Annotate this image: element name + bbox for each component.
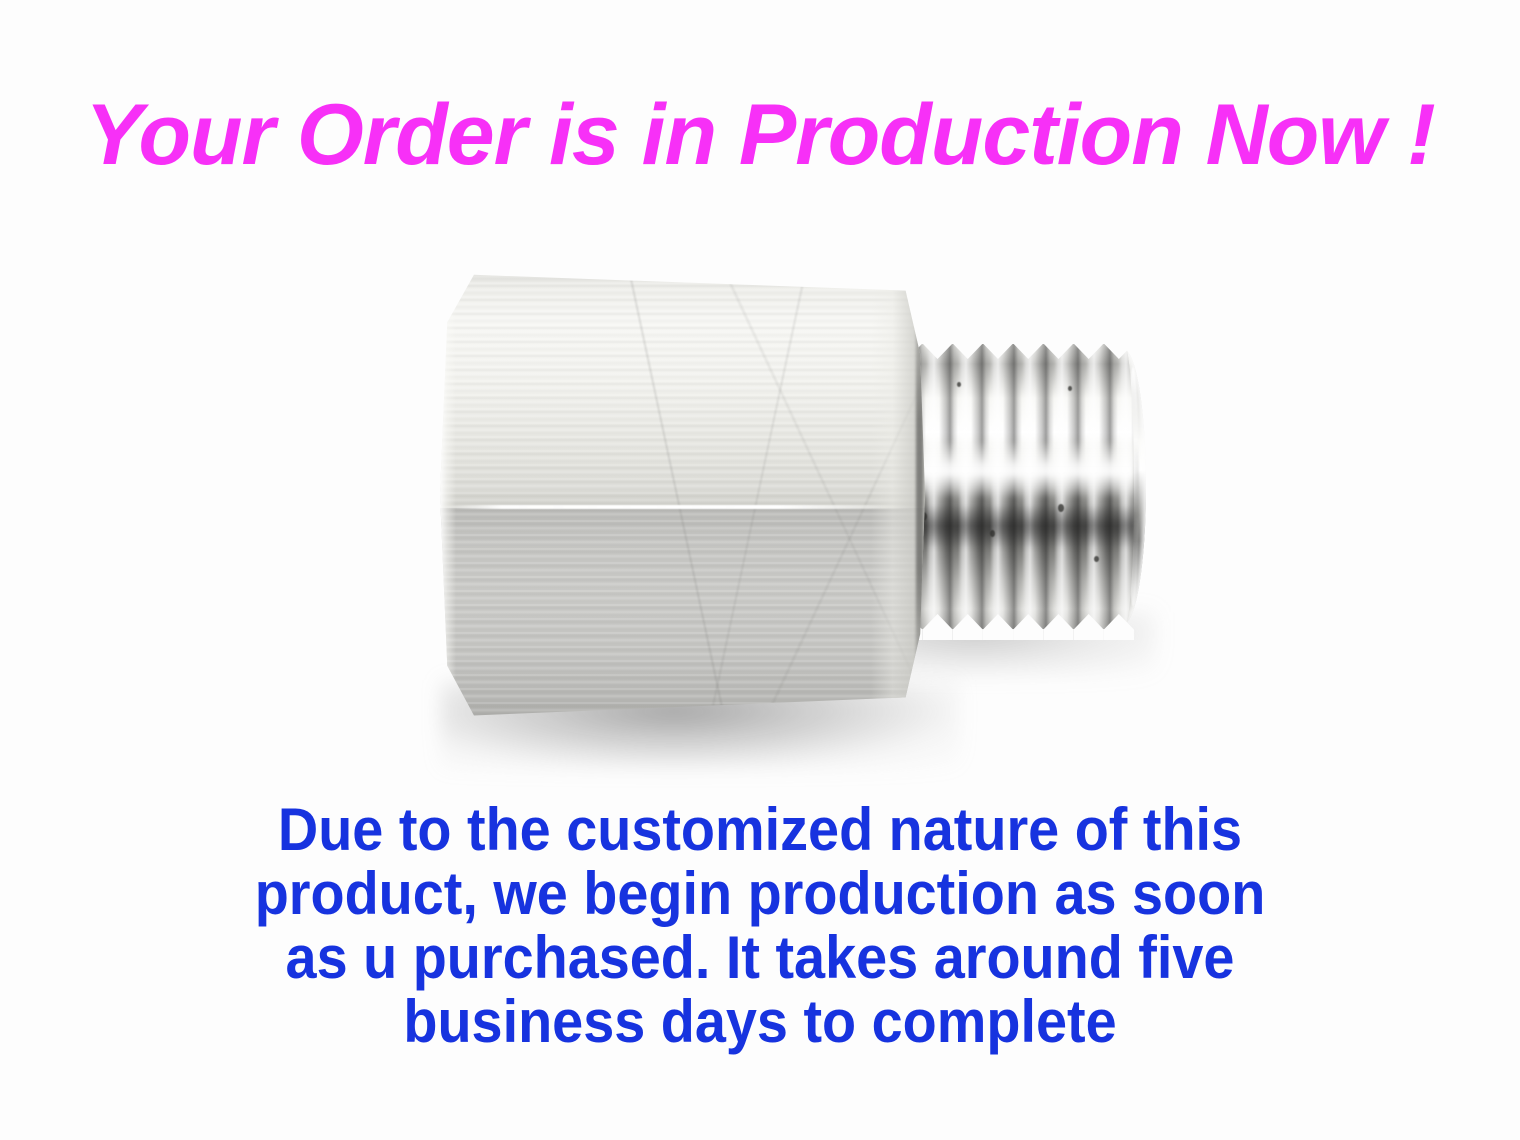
promo-graphic: Your Order is in Production Now ! <box>0 0 1520 1140</box>
thread-pit <box>990 530 995 537</box>
page-title: Your Order is in Production Now ! <box>0 92 1520 178</box>
notice-line: as u purchased. It takes around five <box>53 926 1467 990</box>
thread-pit <box>1068 386 1072 391</box>
thread-crest <box>1074 614 1104 640</box>
product-photo <box>400 240 1190 780</box>
thread-pit <box>1058 504 1064 512</box>
hex-left-rim <box>440 268 456 720</box>
hex-surface-scratches <box>440 268 925 720</box>
thread-crest <box>983 614 1013 640</box>
thread-crest <box>953 614 983 640</box>
hex-body <box>440 268 925 720</box>
thread-pit <box>1094 556 1099 562</box>
notice-line: Due to the customized nature of this <box>53 798 1467 862</box>
thread-crest <box>1013 614 1043 640</box>
thread-crest <box>1043 614 1073 640</box>
thread-crest <box>983 333 1013 359</box>
thread-crest <box>953 333 983 359</box>
thread-crest <box>1074 333 1104 359</box>
thread-crest <box>1013 333 1043 359</box>
notice-line: product, we begin production as soon <box>53 862 1467 926</box>
thread-crest <box>1043 333 1073 359</box>
production-notice: Due to the customized nature of this pro… <box>0 798 1520 1054</box>
hex-facet-edge <box>445 505 920 509</box>
thread-crest <box>922 614 952 640</box>
thread-crest <box>1104 333 1134 359</box>
thread-crest <box>1104 614 1134 640</box>
thread-pit <box>957 382 961 387</box>
thread-crest <box>922 333 952 359</box>
notice-line: business days to complete <box>53 990 1467 1054</box>
